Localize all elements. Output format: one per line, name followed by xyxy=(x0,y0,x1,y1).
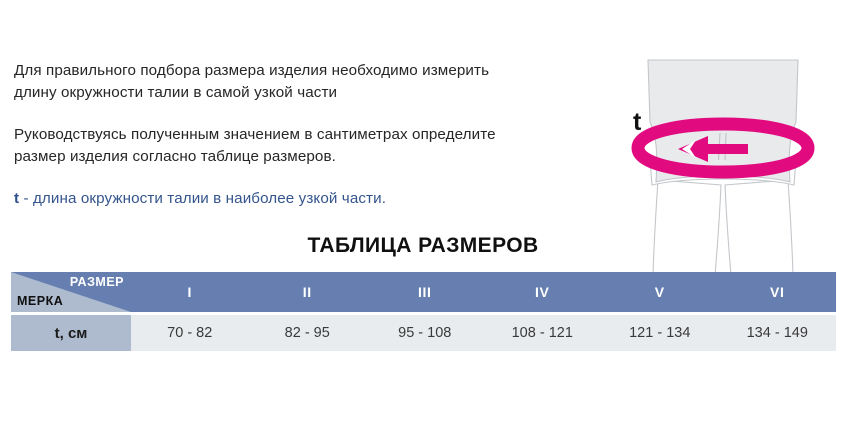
column-header-4: IV xyxy=(484,272,602,312)
size-table-header-row: РАЗМЕР МЕРКА I II III IV V VI xyxy=(11,272,836,312)
left-leg-outline xyxy=(653,180,721,275)
cell-size-5: 121 - 134 xyxy=(601,315,719,351)
cell-size-1: 70 - 82 xyxy=(131,315,249,351)
column-header-6: VI xyxy=(719,272,837,312)
column-header-1: I xyxy=(131,272,249,312)
right-leg-outline xyxy=(725,180,793,275)
legend-text: - длина окружности талии в наиболее узко… xyxy=(19,190,386,207)
corner-size-label: РАЗМЕР xyxy=(70,275,124,289)
cell-size-2: 82 - 95 xyxy=(249,315,367,351)
cell-size-3: 95 - 108 xyxy=(366,315,484,351)
column-header-2: II xyxy=(249,272,367,312)
corner-measure-label: МЕРКА xyxy=(17,294,63,308)
size-table: РАЗМЕР МЕРКА I II III IV V VI t, см xyxy=(11,272,836,351)
table-row: t, см 70 - 82 82 - 95 95 - 108 108 - 121… xyxy=(11,315,836,351)
measure-label-t: t xyxy=(633,110,641,135)
size-table-wrapper: РАЗМЕР МЕРКА I II III IV V VI t, см xyxy=(11,272,836,351)
column-header-5: V xyxy=(601,272,719,312)
instructions-block: Для правильного подбора размера изделия … xyxy=(14,60,514,210)
instruction-paragraph-2: Руководствуясь полученным значением в са… xyxy=(14,124,514,167)
size-table-title: ТАБЛИЦА РАЗМЕРОВ xyxy=(0,234,846,258)
cell-size-4: 108 - 121 xyxy=(484,315,602,351)
corner-header-cell: РАЗМЕР МЕРКА xyxy=(11,272,131,312)
instruction-paragraph-1: Для правильного подбора размера изделия … xyxy=(14,60,514,103)
size-guide-page: Для правильного подбора размера изделия … xyxy=(0,0,846,423)
row-label-t-cm: t, см xyxy=(11,315,131,351)
column-header-3: III xyxy=(366,272,484,312)
legend-line: t - длина окружности талии в наиболее уз… xyxy=(14,188,514,210)
cell-size-6: 134 - 149 xyxy=(719,315,837,351)
